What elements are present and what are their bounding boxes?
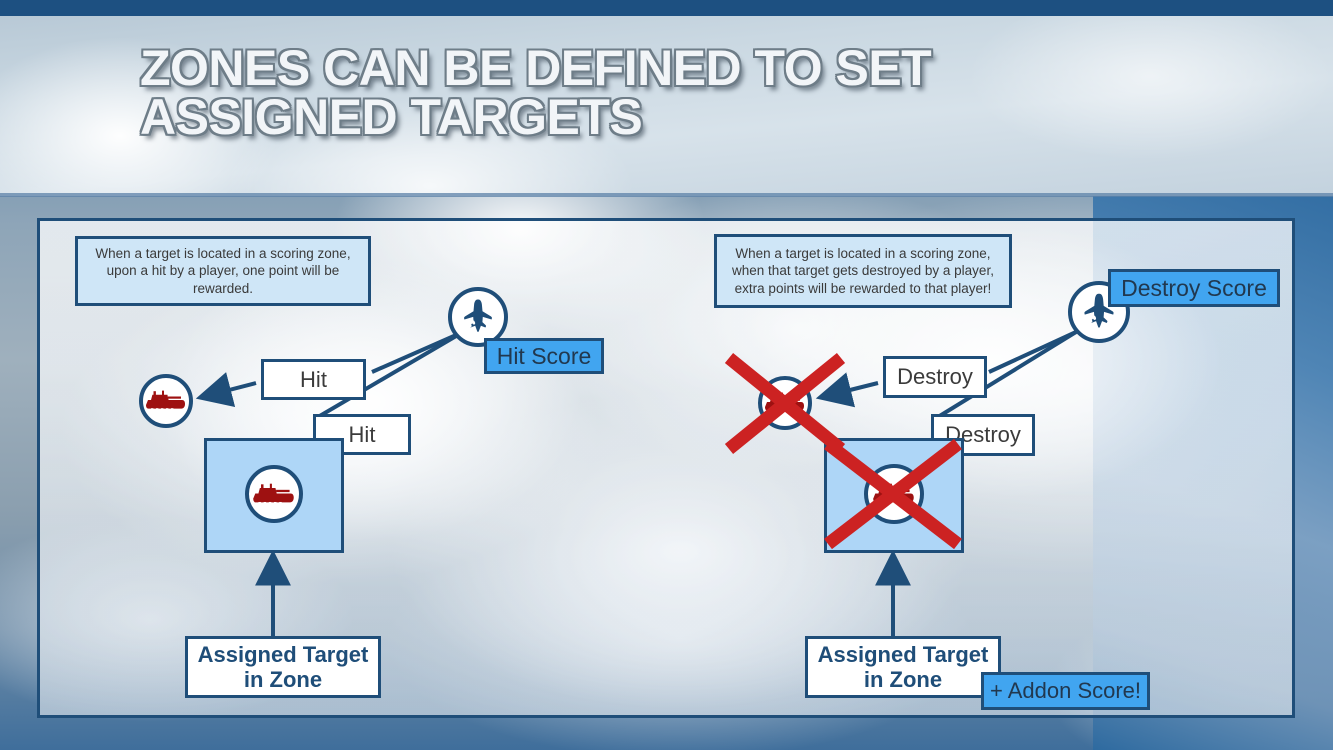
right-info-box: When a target is located in a scoring zo…	[714, 234, 1012, 308]
destroy-score-badge[interactable]: Destroy Score	[1108, 269, 1280, 307]
top-accent-bar	[0, 0, 1333, 16]
left-info-box: When a target is located in a scoring zo…	[75, 236, 371, 306]
right-zone-label: Assigned Target in Zone	[805, 636, 1001, 698]
hit-score-badge[interactable]: Hit Score	[484, 338, 604, 374]
page-title: ZONES CAN BE DEFINED TO SET ASSIGNED TAR…	[140, 44, 1190, 142]
destroy-label-top: Destroy	[883, 356, 987, 398]
tank-target-icon	[873, 481, 915, 508]
hit-label-top: Hit	[261, 359, 366, 400]
left-target-circle-in-zone	[245, 465, 303, 523]
tank-target-icon	[765, 390, 805, 416]
left-zone-label: Assigned Target in Zone	[185, 636, 381, 698]
tank-target-icon	[146, 388, 186, 414]
right-target-circle-outside	[758, 376, 812, 430]
right-target-circle-in-zone	[864, 464, 924, 524]
presentation-slide: ZONES CAN BE DEFINED TO SET ASSIGNED TAR…	[0, 0, 1333, 750]
left-target-circle-outside	[139, 374, 193, 428]
addon-score-badge[interactable]: + Addon Score!	[981, 672, 1150, 710]
fighter-jet-icon	[456, 295, 500, 339]
tank-target-icon	[253, 481, 295, 508]
header-underline	[0, 193, 1333, 197]
